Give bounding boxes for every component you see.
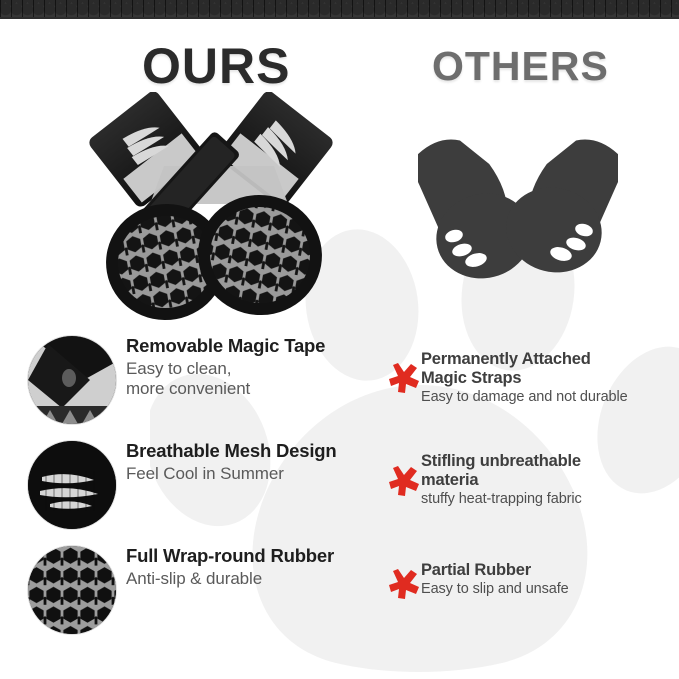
ours-feature-subtitle: Easy to clean, more convenient bbox=[126, 359, 386, 400]
others-feature-title: Permanently Attached Magic Straps bbox=[421, 350, 673, 388]
ours-feature-title: Removable Magic Tape bbox=[126, 336, 386, 357]
ours-feature-text: Breathable Mesh Design Feel Cool in Summ… bbox=[126, 441, 386, 484]
ours-feature-text: Full Wrap-round Rubber Anti-slip & durab… bbox=[126, 546, 386, 589]
top-divider-line bbox=[0, 17, 679, 19]
red-x-icon bbox=[388, 568, 420, 600]
others-feature-subtitle: stuffy heat-trapping fabric bbox=[421, 491, 673, 508]
red-x-icon bbox=[388, 465, 420, 497]
others-feature-subtitle: Easy to damage and not durable bbox=[421, 389, 673, 406]
page-title-ours: OURS bbox=[142, 37, 290, 95]
others-feature-text: Partial Rubber Easy to slip and unsafe bbox=[421, 561, 673, 598]
others-feature-text: Permanently Attached Magic Straps Easy t… bbox=[421, 350, 673, 406]
ours-feature-subtitle: Feel Cool in Summer bbox=[126, 464, 386, 485]
honeycomb-pattern bbox=[0, 0, 679, 17]
ours-feature-text: Removable Magic Tape Easy to clean, more… bbox=[126, 336, 386, 400]
others-feature-title: Partial Rubber bbox=[421, 561, 673, 580]
feature-row: Full Wrap-round Rubber Anti-slip & durab… bbox=[0, 540, 679, 640]
ours-feature-title: Breathable Mesh Design bbox=[126, 441, 386, 462]
ours-product-image bbox=[78, 92, 348, 327]
red-x-icon bbox=[388, 362, 420, 394]
feature-row: Removable Magic Tape Easy to clean, more… bbox=[0, 330, 679, 430]
comparison-infographic: OURS OTHERS bbox=[0, 0, 679, 679]
ours-feature-subtitle: Anti-slip & durable bbox=[126, 569, 386, 590]
others-feature-text: Stifling unbreathable materia stuffy hea… bbox=[421, 452, 673, 508]
page-title-others: OTHERS bbox=[432, 43, 609, 90]
ours-feature-title: Full Wrap-round Rubber bbox=[126, 546, 386, 567]
breathable-mesh-thumb-icon bbox=[28, 441, 116, 529]
top-honeycomb-border bbox=[0, 0, 679, 17]
others-product-image bbox=[418, 118, 618, 298]
honeycomb-rubber-thumb-icon bbox=[28, 546, 116, 634]
others-feature-title: Stifling unbreathable materia bbox=[421, 452, 673, 490]
others-feature-subtitle: Easy to slip and unsafe bbox=[421, 581, 673, 598]
magic-tape-thumb-icon bbox=[28, 336, 116, 424]
feature-row: Breathable Mesh Design Feel Cool in Summ… bbox=[0, 435, 679, 535]
